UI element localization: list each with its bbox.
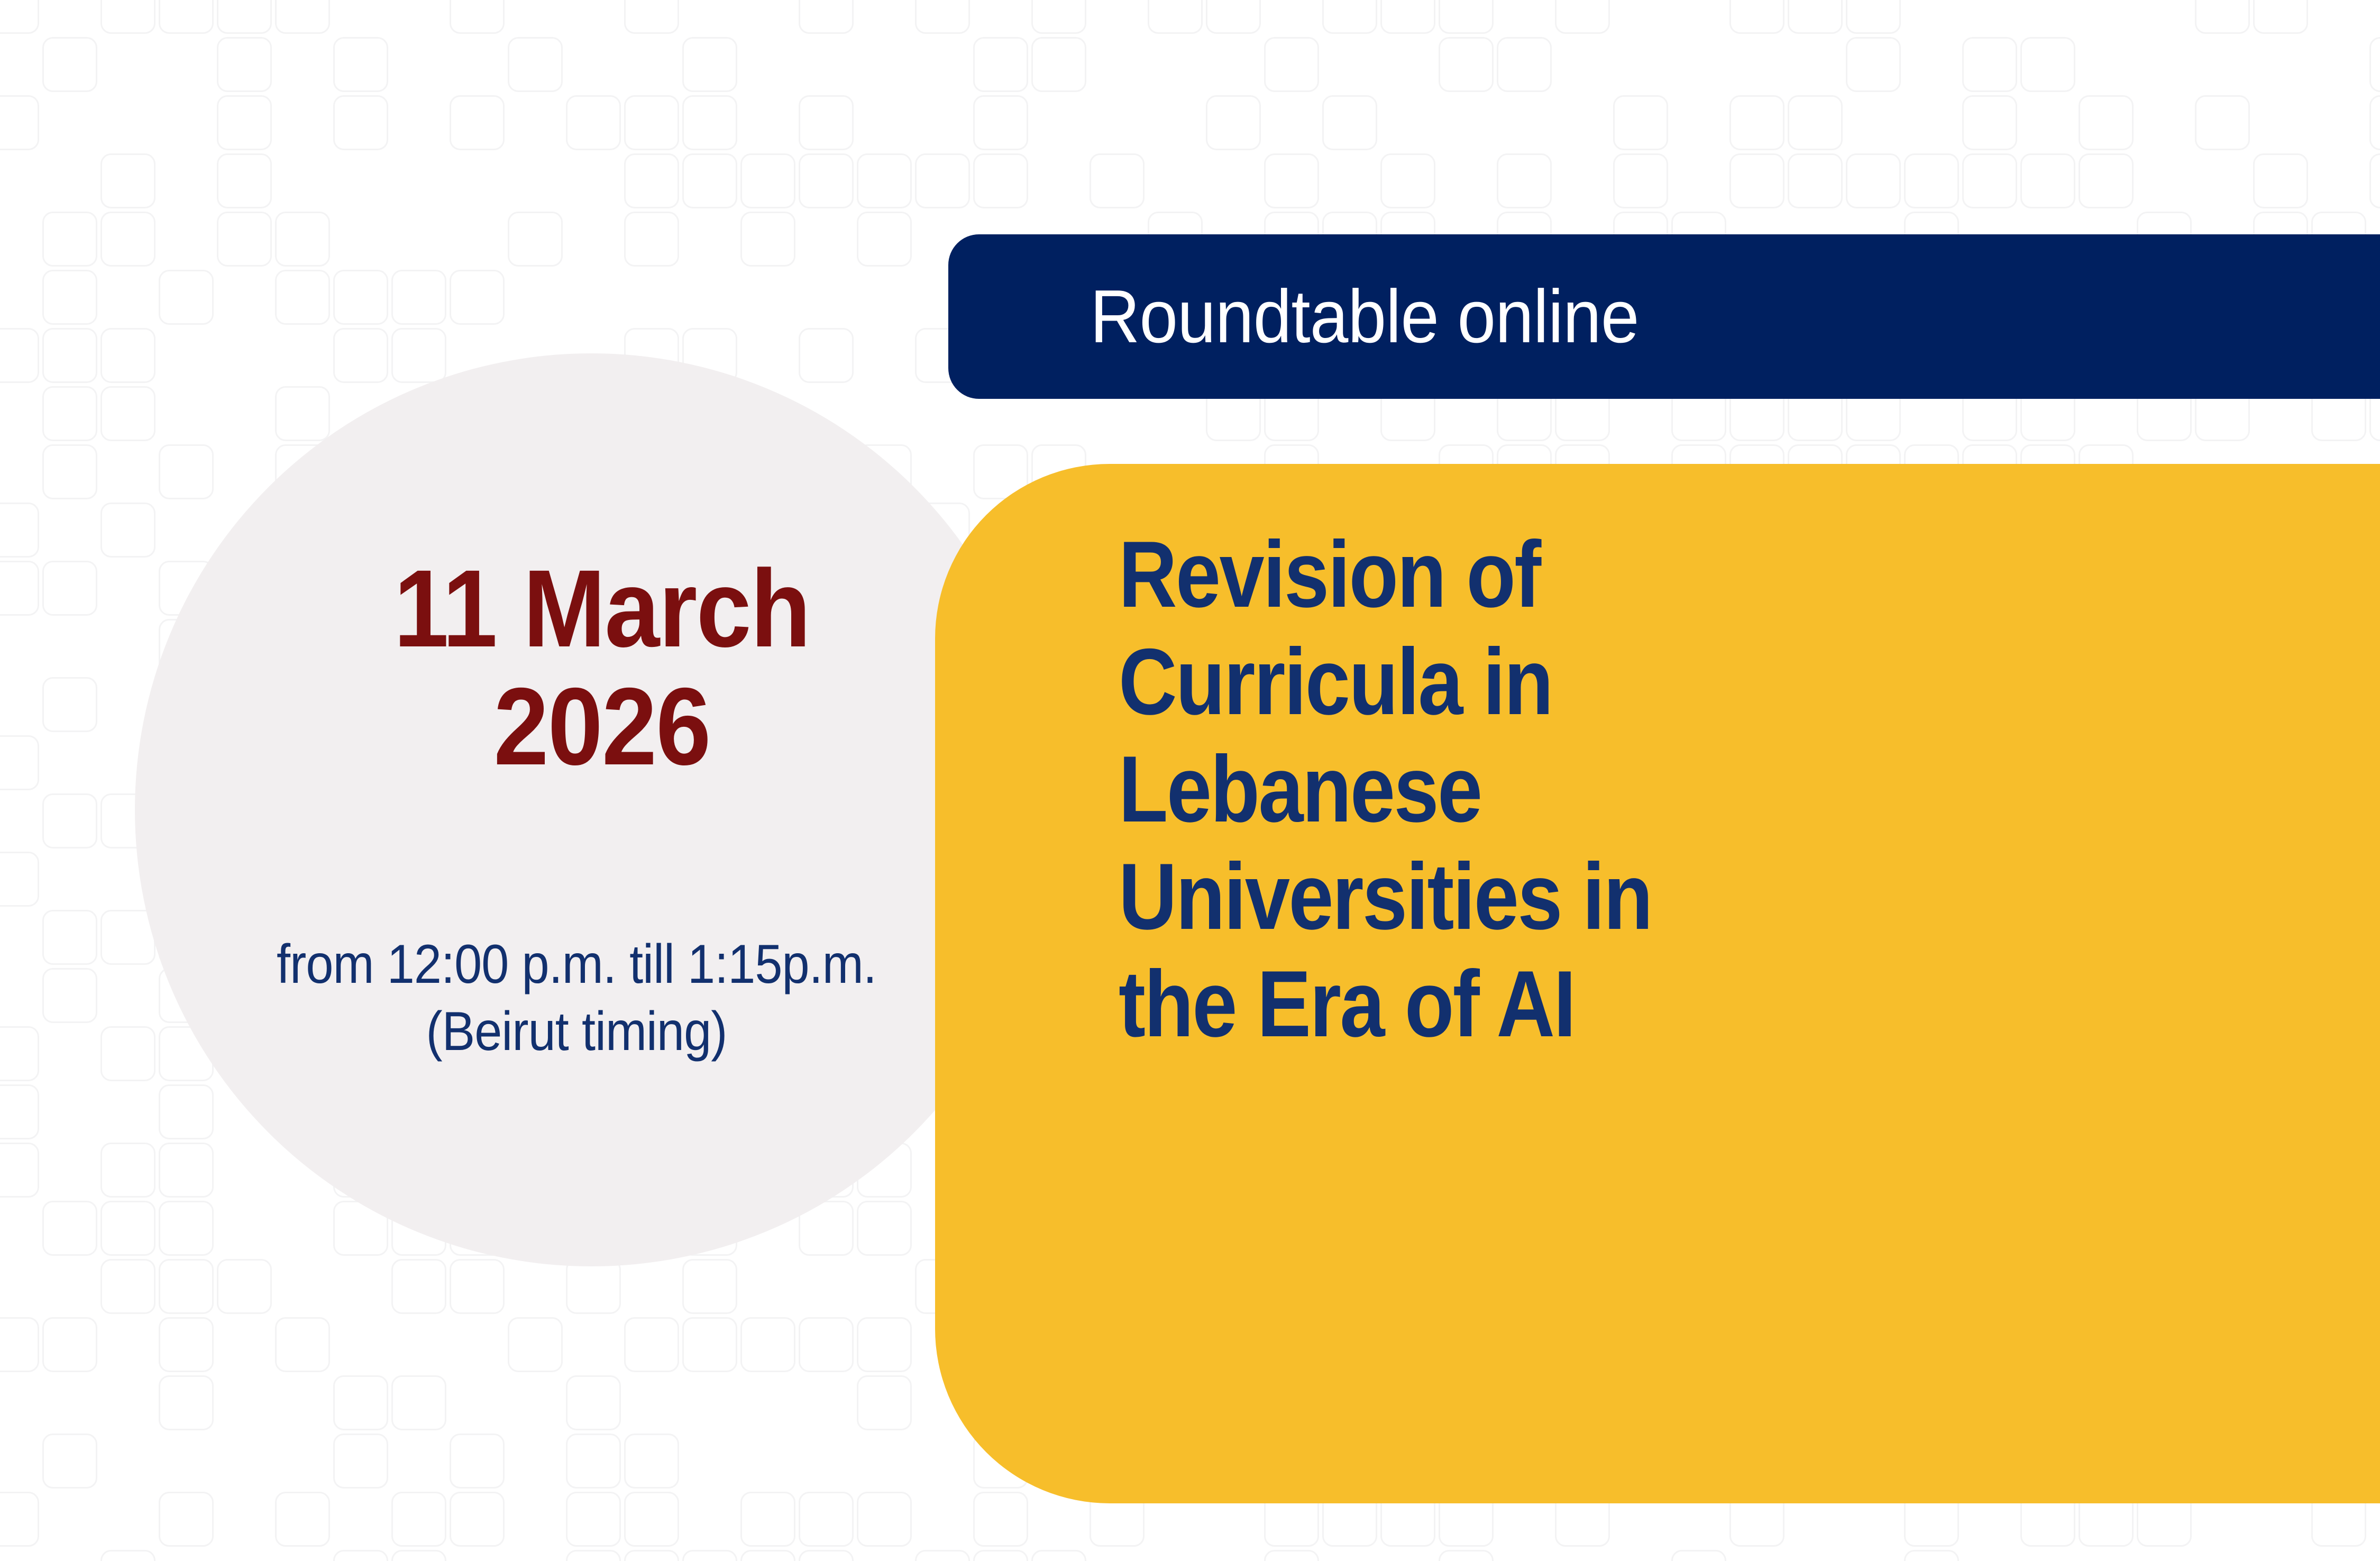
background-tile [100,386,155,441]
background-tile [566,1550,621,1561]
event-timezone-note: (Beirut timing) [181,998,972,1065]
background-tile [1439,0,1494,34]
background-tile [333,1434,388,1489]
background-tile [915,1550,970,1561]
background-tile [566,1375,621,1430]
background-tile [682,1550,737,1561]
background-tile [42,910,97,965]
background-tile [0,1026,39,1081]
background-tile [2079,95,2134,150]
background-tile [275,1492,330,1547]
background-tile [100,1550,155,1561]
background-tile [1962,37,2017,92]
background-tile [624,0,679,34]
background-tile [159,1259,214,1314]
background-tile [799,0,854,34]
background-tile [1264,37,1319,92]
background-tile [1613,153,1668,208]
background-tile [624,153,679,208]
background-tile [1031,37,1086,92]
background-tile [450,270,505,325]
background-tile [0,328,39,383]
background-tile [508,212,563,267]
background-tile [1264,1550,1319,1561]
time-block: from 12:00 p.m. till 1:15p.m. (Beirut ti… [138,931,1015,1065]
background-tile [159,1143,214,1198]
background-tile [159,444,214,499]
background-tile [1846,37,1901,92]
background-tile [624,1492,679,1547]
background-tile [100,1143,155,1198]
background-tile [740,153,795,208]
background-tile [740,212,795,267]
background-tile [624,1550,679,1561]
background-tile [973,1550,1028,1561]
background-tile [566,1259,621,1314]
background-tile [217,37,272,92]
background-tile [915,0,970,34]
background-tile [1788,0,1843,34]
background-tile [450,1434,505,1489]
background-tile [2369,95,2380,150]
background-tile [275,0,330,34]
background-tile [333,95,388,150]
background-tile [682,153,737,208]
background-tile [0,503,39,558]
background-tile [333,328,388,383]
background-tile [0,1084,39,1139]
background-tile [799,153,854,208]
background-tile [508,1317,563,1372]
background-tile [42,386,97,441]
event-day-month: 11 March [202,550,983,668]
background-tile [2253,153,2308,208]
background-tile [450,95,505,150]
background-tile [857,212,912,267]
background-tile [217,212,272,267]
background-tile [217,1259,272,1314]
background-tile [217,95,272,150]
background-tile [1031,1550,1086,1561]
background-tile [857,1317,912,1372]
background-tile [0,561,39,616]
background-tile [799,1550,854,1561]
background-tile [100,153,155,208]
background-tile [0,735,39,790]
date-circle-backdrop [135,353,1048,1266]
event-time-range: from 12:00 p.m. till 1:15p.m. [181,931,972,998]
background-tile [740,1317,795,1372]
background-tile [391,328,446,383]
background-tile [1206,0,1261,34]
background-tile [0,95,39,150]
background-tile [391,1492,446,1547]
background-tile [42,968,97,1023]
background-tile [159,1201,214,1256]
background-tile [624,95,679,150]
background-tile [275,1317,330,1372]
background-tile [159,1492,214,1547]
background-tile [1497,37,1552,92]
background-tile [1380,153,1435,208]
kicker-banner: Roundtable online [948,234,2380,399]
background-tile [2195,95,2250,150]
background-tile [682,37,737,92]
background-tile [1904,153,1959,208]
background-tile [450,1492,505,1547]
background-tile [1846,0,1901,34]
background-tile [2369,153,2380,208]
background-tile [915,153,970,208]
background-tile [1148,0,1203,34]
event-year: 2026 [202,668,983,786]
background-tile [42,1317,97,1372]
background-tile [799,95,854,150]
background-tile [566,95,621,150]
background-tile [1846,153,1901,208]
background-tile [42,1201,97,1256]
background-tile [275,270,330,325]
background-tile [973,1492,1028,1547]
background-tile [1904,1550,1959,1561]
background-tile [1322,95,1377,150]
background-tile [1729,0,1784,34]
background-tile [857,1492,912,1547]
background-tile [217,153,272,208]
event-title-line: Curricula in [1119,628,2165,736]
background-tile [42,444,97,499]
background-tile [1729,95,1784,150]
background-tile [2079,153,2134,208]
background-tile [1613,95,1668,150]
background-tile [217,0,272,34]
background-tile [566,1492,621,1547]
background-tile [857,1201,912,1256]
background-tile [1671,1550,1726,1561]
background-tile [1322,0,1377,34]
background-tile [1031,0,1086,34]
background-tile [973,95,1028,150]
background-tile [1206,95,1261,150]
background-tile [42,212,97,267]
background-tile [1729,153,1784,208]
background-tile [624,1317,679,1372]
background-tile [333,1375,388,1430]
background-tile [1439,37,1494,92]
background-tile [100,328,155,383]
background-tile [159,1317,214,1372]
background-tile [333,1550,388,1561]
background-tile [1497,153,1552,208]
event-title-line: Revision of [1119,521,2165,628]
background-tile [0,1143,39,1198]
background-tile [1962,153,2017,208]
background-tile [100,1201,155,1256]
background-tile [624,1434,679,1489]
event-title-line: Lebanese [1119,736,2165,843]
background-tile [42,561,97,616]
background-tile [159,1375,214,1430]
background-tile [42,37,97,92]
background-tile [1264,153,1319,208]
background-tile [857,1375,912,1430]
background-tile [2195,0,2250,34]
background-tile [42,1434,97,1489]
background-tile [682,1317,737,1372]
background-tile [275,212,330,267]
background-tile [100,0,155,34]
background-tile [799,1317,854,1372]
background-tile [1439,1550,1494,1561]
background-tile [275,386,330,441]
background-tile [100,503,155,558]
background-tile [857,153,912,208]
background-tile [391,1550,446,1561]
background-tile [0,1492,39,1547]
background-tile [42,270,97,325]
background-tile [973,153,1028,208]
background-tile [0,852,39,907]
event-title-line: Universities in [1119,843,2165,951]
background-tile [2020,153,2075,208]
background-tile [2369,37,2380,92]
background-tile [508,37,563,92]
background-tile [100,212,155,267]
background-tile [391,1375,446,1430]
background-tile [0,0,39,34]
background-tile [740,1550,795,1561]
background-tile [42,328,97,383]
kicker-label: Roundtable online [1090,279,1639,354]
background-tile [1380,0,1435,34]
background-tile [42,793,97,848]
background-tile [740,1492,795,1547]
background-tile [0,1317,39,1372]
background-tile [42,677,97,732]
background-tile [1555,0,1610,34]
background-tile [1962,95,2017,150]
background-tile [450,1259,505,1314]
background-tile [1788,95,1843,150]
background-tile [159,270,214,325]
background-tile [1788,153,1843,208]
background-tile [2253,0,2308,34]
background-tile [159,1084,214,1139]
background-tile [973,37,1028,92]
background-tile [682,1259,737,1314]
background-tile [1090,153,1145,208]
background-tile [799,328,854,383]
event-title: Revision of Curricula in Lebanese Univer… [1119,521,2335,1058]
date-block: 11 March 2026 [159,550,1026,786]
background-tile [682,95,737,150]
event-title-line: the Era of AI [1119,951,2165,1058]
background-tile [566,1434,621,1489]
poster-canvas: Roundtable online 11 March 2026 from 12:… [0,0,2380,1561]
background-tile [333,270,388,325]
background-tile [100,1259,155,1314]
background-tile [391,1259,446,1314]
background-tile [333,37,388,92]
background-tile [159,0,214,34]
background-tile [450,0,505,34]
background-tile [799,1492,854,1547]
background-tile [2020,37,2075,92]
background-tile [624,212,679,267]
background-tile [391,270,446,325]
